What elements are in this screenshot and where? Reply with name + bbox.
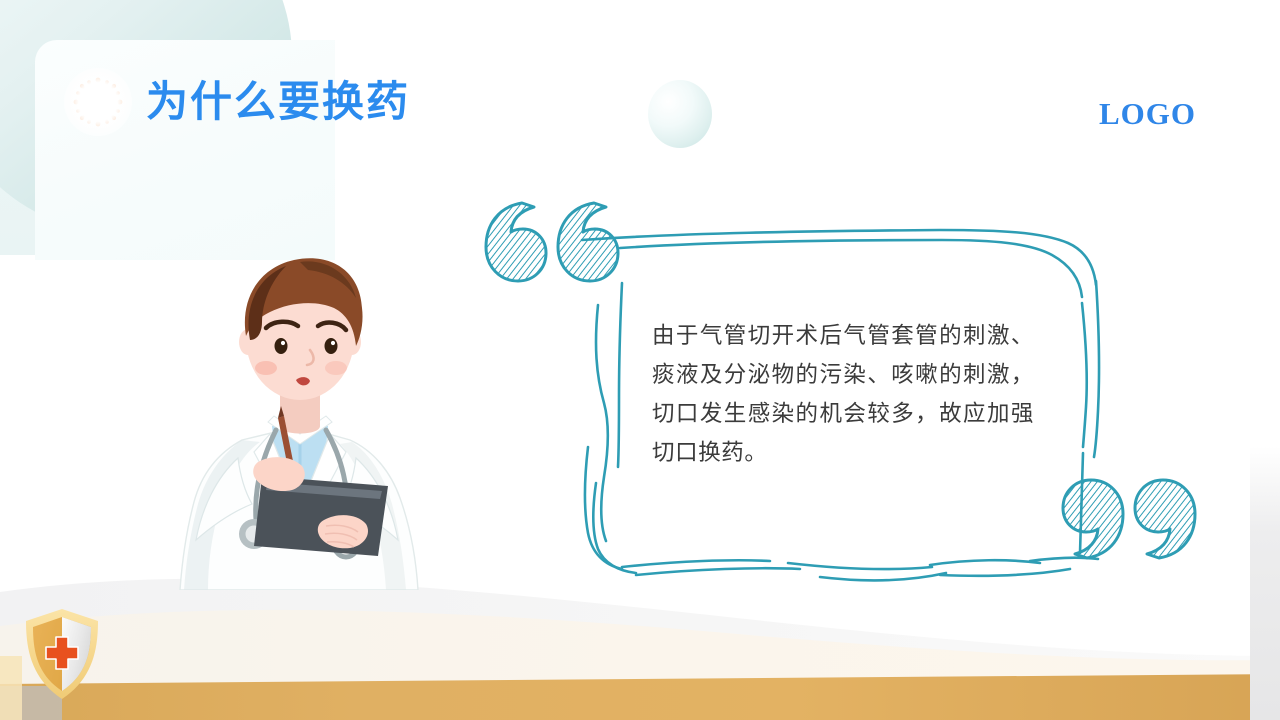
- close-quote-mark: [1055, 470, 1215, 570]
- slide-header: 为什么要换药 LOGO: [0, 0, 1280, 180]
- close-quote-glyph-1: [1063, 480, 1123, 558]
- page-title: 为什么要换药: [146, 76, 410, 128]
- doctor-cheek-left: [255, 361, 277, 375]
- doctor-eye-left: [275, 338, 288, 354]
- frame-top-inner: [620, 240, 1082, 297]
- frame-left-upper: [618, 283, 622, 467]
- quote-block: 由于气管切开术后气管套管的刺激、痰液及分泌物的污染、咳嗽的刺激，切口发生感染的机…: [470, 185, 1170, 585]
- open-quote-glyph-1: [486, 203, 546, 281]
- frame-right-outer: [1094, 281, 1099, 457]
- quote-body-text: 由于气管切开术后气管套管的刺激、痰液及分泌物的污染、咳嗽的刺激，切口发生感染的机…: [652, 317, 1034, 473]
- frame-corner-bl: [593, 483, 636, 573]
- open-quote-mark: [478, 193, 638, 293]
- frame-left-lower: [585, 447, 622, 569]
- close-quote-glyph-2: [1135, 480, 1195, 558]
- slide-canvas: 为什么要换药 LOGO: [0, 0, 1280, 720]
- frame-bottom-b: [636, 568, 800, 575]
- doctor-illustration: [150, 190, 450, 590]
- frame-bottom-d: [820, 573, 946, 580]
- frame-bottom-e: [930, 560, 1040, 565]
- doctor-eye-left-glint: [281, 341, 285, 345]
- wave-gold-foot: [0, 656, 22, 720]
- virus-icon-halo: [64, 68, 132, 136]
- doctor-cheek-right: [325, 361, 347, 375]
- open-quote-glyph-2: [558, 203, 618, 281]
- frame-right-inner: [1082, 303, 1087, 447]
- shield-cross-icon: [22, 607, 102, 701]
- virus-icon: [72, 76, 124, 128]
- doctor-eye-right: [325, 338, 338, 354]
- frame-top-outer: [582, 230, 1096, 285]
- frame-left-wavy: [596, 305, 608, 541]
- frame-bottom-a: [622, 560, 770, 567]
- logo: LOGO: [1099, 96, 1196, 132]
- frame-bottom-f: [940, 569, 1070, 576]
- doctor-eye-right-glint: [331, 341, 335, 345]
- frame-bottom-c: [788, 563, 932, 569]
